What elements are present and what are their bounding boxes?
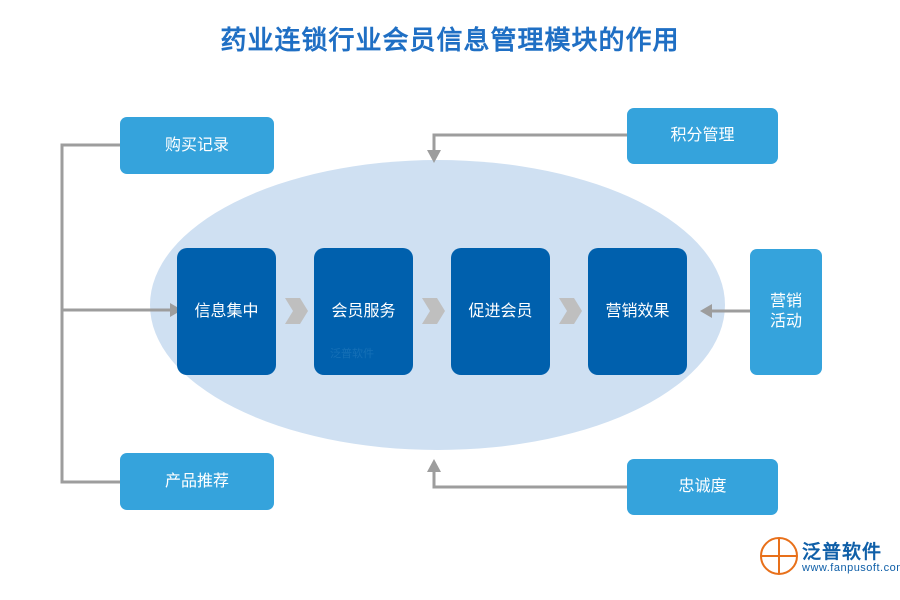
- logo-watermark: 泛普软件 www.fanpusoft.com: [760, 535, 890, 585]
- diagram-canvas: 药业连锁行业会员信息管理模块的作用 购买记录 积分管理 营销 活动 产品推荐 忠…: [0, 0, 900, 600]
- node-info-centralization-label: 信息集中: [194, 302, 258, 322]
- node-member-service-label: 会员服务: [331, 302, 395, 322]
- logo-url: www.fanpusoft.com: [802, 562, 900, 574]
- inner-watermark-text: 泛普软件: [330, 345, 374, 361]
- logo-name: 泛普软件: [802, 537, 882, 564]
- node-info-centralization[interactable]: 信息集中: [177, 248, 276, 375]
- node-product-recommendation[interactable]: 产品推荐: [120, 453, 274, 510]
- node-loyalty[interactable]: 忠诚度: [627, 459, 778, 515]
- node-promote-member-label: 促进会员: [468, 302, 532, 322]
- node-marketing-activity-label: 营销 活动: [770, 292, 802, 332]
- node-loyalty-label: 忠诚度: [678, 477, 726, 497]
- node-product-recommendation-label: 产品推荐: [165, 472, 229, 492]
- node-promote-member[interactable]: 促进会员: [451, 248, 550, 375]
- node-marketing-activity[interactable]: 营销 活动: [750, 249, 822, 375]
- node-points-management-label: 积分管理: [670, 126, 734, 146]
- node-points-management[interactable]: 积分管理: [627, 108, 778, 164]
- node-marketing-effect[interactable]: 营销效果: [588, 248, 687, 375]
- node-purchase-record[interactable]: 购买记录: [120, 117, 274, 174]
- node-marketing-effect-label: 营销效果: [605, 302, 669, 322]
- node-purchase-record-label: 购买记录: [165, 136, 229, 156]
- globe-icon: [760, 537, 798, 575]
